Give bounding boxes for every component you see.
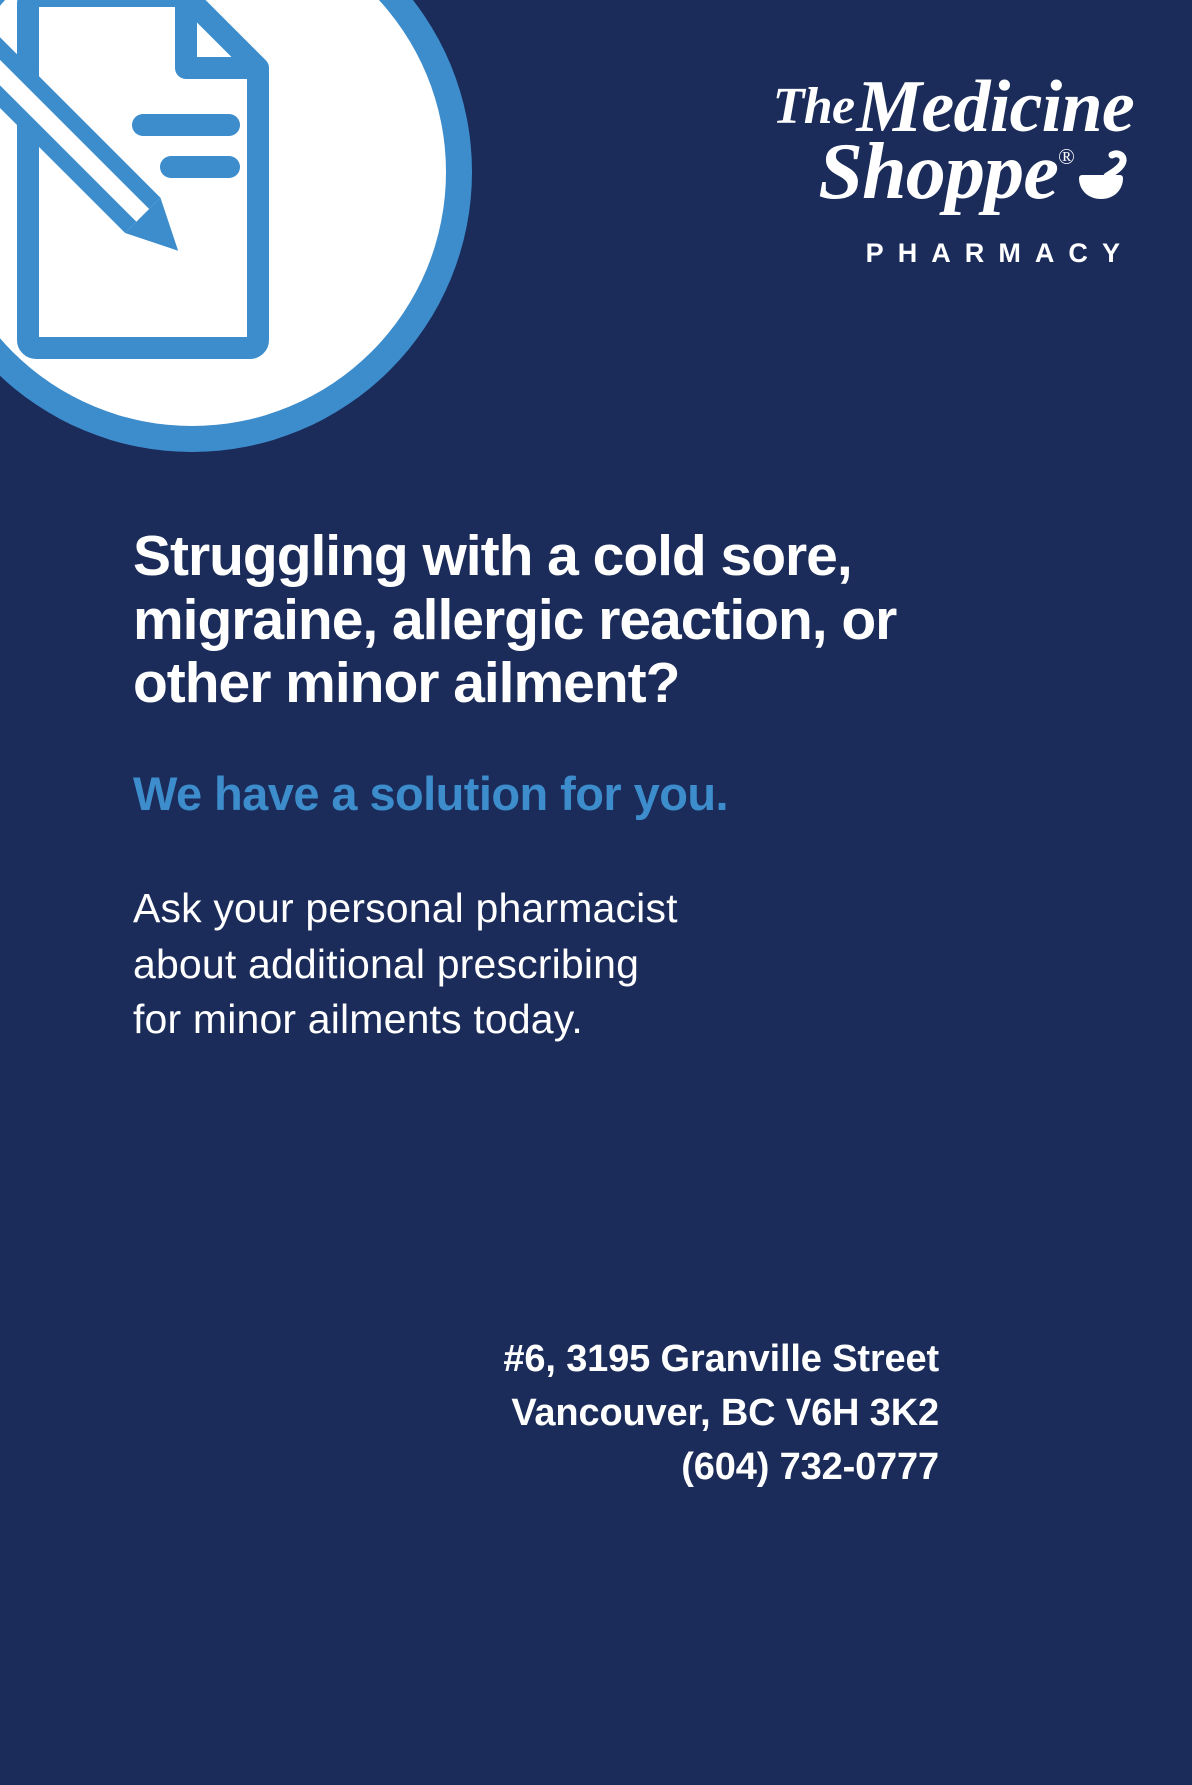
subheadline: We have a solution for you. [133, 768, 993, 820]
body-line-3: for minor ailments today. [133, 992, 993, 1047]
copy-block: Struggling with a cold sore, migraine, a… [133, 525, 993, 1047]
body-copy: Ask your personal pharmacist about addit… [133, 881, 993, 1047]
contact-block: #6, 3195 Granville Street Vancouver, BC … [503, 1333, 939, 1495]
contact-phone[interactable]: (604) 732-0777 [503, 1441, 939, 1495]
poster-canvas: TheMedicine Shoppe® PHARMACY Struggling … [0, 0, 1192, 1785]
logo-wordmark: TheMedicine Shoppe® [714, 70, 1134, 230]
headline-line-1: Struggling with a cold sore, [133, 524, 852, 588]
prescription-badge [0, 0, 472, 452]
registered-mark: ® [1058, 144, 1074, 169]
body-line-1: Ask your personal pharmacist [133, 881, 993, 936]
address-city-province-postal: Vancouver, BC V6H 3K2 [503, 1387, 939, 1441]
brand-logo: TheMedicine Shoppe® PHARMACY [714, 70, 1134, 269]
prescription-document-pencil-icon [0, 0, 374, 368]
logo-the: The [773, 78, 857, 135]
page-title: Struggling with a cold sore, migraine, a… [133, 525, 993, 716]
address-street: #6, 3195 Granville Street [503, 1333, 939, 1387]
logo-pharmacy-label: PHARMACY [714, 238, 1134, 269]
logo-line-shoppe: Shoppe® [818, 132, 1130, 218]
logo-shoppe: Shoppe [818, 128, 1058, 216]
mortar-and-pestle-icon [1076, 138, 1130, 218]
headline-line-2: migraine, allergic reaction, [133, 588, 827, 652]
body-line-2: about additional prescribing [133, 937, 993, 992]
